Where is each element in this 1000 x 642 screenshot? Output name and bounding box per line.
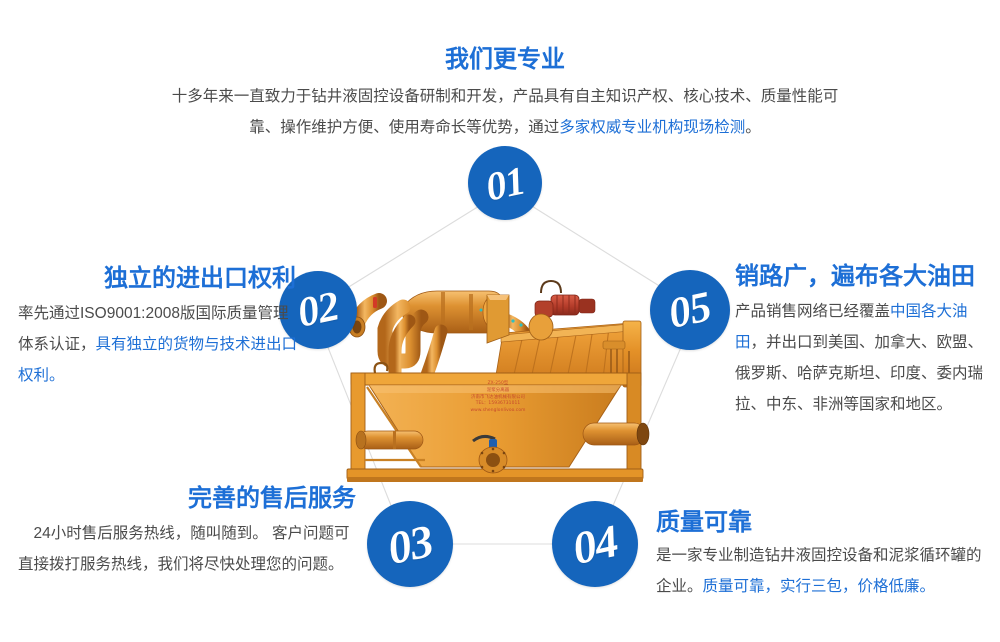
infographic-page: ZX-250型 泥浆分离器 济南市飞达油机械有限公司 TEL：159367310… xyxy=(0,0,1000,642)
feature-block-04: 质量可靠 是一家专业制造钻井液固控设备和泥浆循环罐的企业。质量可靠，实行三包，价… xyxy=(656,508,986,602)
badge-05[interactable]: 05 xyxy=(650,270,730,350)
feature-body-05: 产品销售网络已经覆盖中国各大油田，并出口到美国、加拿大、欧盟、俄罗斯、哈萨克斯坦… xyxy=(735,296,993,420)
feature-body-04-highlight: 质量可靠，实行三包，价格低廉。 xyxy=(703,578,936,595)
machine-nameplate: ZX-250型 泥浆分离器 济南市飞达油机械有限公司 TEL：159367310… xyxy=(462,381,534,415)
feature-block-02: 独立的进出口权利 率先通过ISO9001:2008版国际质量管理体系认证，具有独… xyxy=(18,264,298,391)
badge-04[interactable]: 04 xyxy=(552,501,638,587)
feature-body-05-plain-2: ，并出口到美国、加拿大、欧盟、俄罗斯、哈萨克斯坦、印度、委内瑞拉、中东、非洲等国… xyxy=(735,334,983,413)
badge-number-04: 04 xyxy=(568,513,622,574)
feature-block-05: 销路广，遍布各大油田 产品销售网络已经覆盖中国各大油田，并出口到美国、加拿大、欧… xyxy=(735,262,993,420)
feature-title-01: 我们更专业 xyxy=(160,45,850,75)
feature-title-03: 完善的售后服务 xyxy=(18,484,358,514)
nameplate-line-5: www.shenglonlivoo.com xyxy=(462,408,534,415)
feature-body-02: 率先通过ISO9001:2008版国际质量管理体系认证，具有独立的货物与技术进出… xyxy=(18,298,298,391)
feature-block-03: 完善的售后服务 24小时售后服务热线，随叫随到。 客户问题可直接拨打服务热线，我… xyxy=(18,484,358,580)
product-photo-mud-separator xyxy=(345,255,655,485)
feature-body-01: 十多年来一直致力于钻井液固控设备研制和开发，产品具有自主知识产权、核心技术、质量… xyxy=(160,81,850,143)
feature-body-05-plain-1: 产品销售网络已经覆盖 xyxy=(735,303,890,320)
nameplate-line-1: ZX-250型 xyxy=(462,381,534,388)
badge-03[interactable]: 03 xyxy=(367,501,453,587)
feature-body-03-plain-1: 24小时售后服务热线，随叫随到。 客户问题可直接拨打服务热线，我们将尽快处理您的… xyxy=(18,525,350,573)
nameplate-line-2: 泥浆分离器 xyxy=(462,388,534,395)
feature-body-01-highlight: 多家权威专业机构现场检测 xyxy=(559,119,745,136)
badge-number-02: 02 xyxy=(293,282,342,337)
feature-body-04: 是一家专业制造钻井液固控设备和泥浆循环罐的企业。质量可靠，实行三包，价格低廉。 xyxy=(656,540,986,602)
feature-title-04: 质量可靠 xyxy=(656,508,986,538)
feature-block-01: 我们更专业 十多年来一直致力于钻井液固控设备研制和开发，产品具有自主知识产权、核… xyxy=(160,45,850,143)
feature-body-01-plain-2: 。 xyxy=(745,119,761,136)
badge-number-03: 03 xyxy=(383,513,437,574)
feature-title-05: 销路广，遍布各大油田 xyxy=(735,262,993,292)
badge-number-01: 01 xyxy=(481,156,528,210)
feature-body-03: 24小时售后服务热线，随叫随到。 客户问题可直接拨打服务热线，我们将尽快处理您的… xyxy=(18,518,358,580)
badge-01[interactable]: 01 xyxy=(468,146,542,220)
badge-number-05: 05 xyxy=(665,282,716,339)
feature-title-02: 独立的进出口权利 xyxy=(18,264,298,294)
